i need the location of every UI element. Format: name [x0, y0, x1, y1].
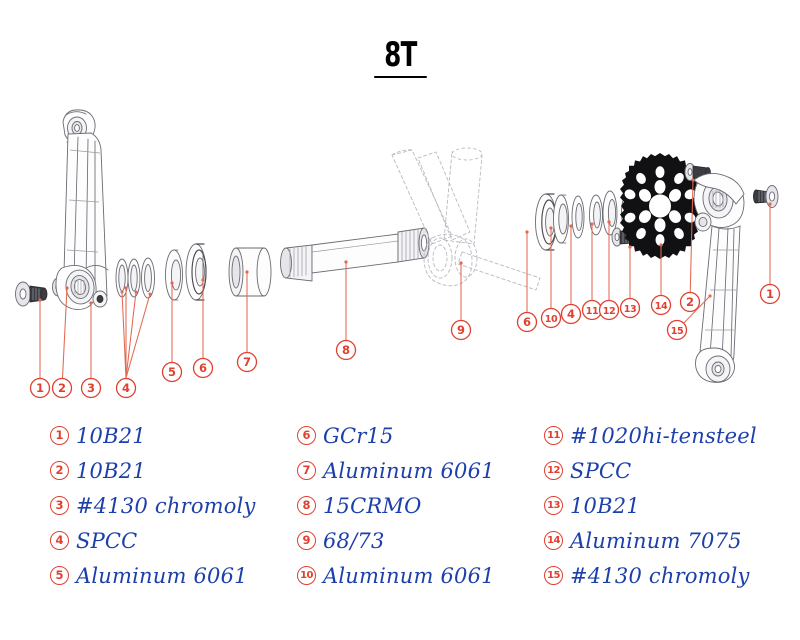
legend-number: 15	[544, 566, 563, 585]
callout-number: 9	[457, 323, 465, 337]
callout-number: 2	[686, 295, 694, 309]
legend-material: #4130 chromoly	[76, 494, 256, 518]
legend-number: 5	[50, 566, 69, 585]
right-cup-ring-part	[554, 195, 569, 243]
callout-number: 15	[671, 326, 684, 337]
legend-number: 12	[544, 461, 563, 480]
callout-number: 6	[523, 315, 531, 329]
legend-material: Aluminum 6061	[323, 459, 495, 483]
callout-number: 1	[36, 381, 44, 395]
callout-number: 4	[567, 307, 575, 321]
legend-item: 13 10B21	[544, 488, 757, 523]
callout-11-dust-cap-ring: 11	[583, 222, 602, 319]
diagram-page: 8T	[0, 0, 800, 640]
legend-number: 7	[297, 461, 316, 480]
legend-number: 13	[544, 496, 563, 515]
legend-number: 9	[297, 531, 316, 550]
legend-item: 2 10B21	[50, 453, 256, 488]
callout-number: 6	[199, 361, 207, 375]
legend-material: 10B21	[570, 494, 640, 518]
callout-1-right-pedal-bolt: 1	[761, 202, 780, 303]
right-pedal-bolt-part	[753, 186, 778, 208]
dust-cap-ring-part	[590, 195, 603, 235]
callout-number: 1	[766, 287, 774, 301]
left-crank-arm-part	[56, 110, 108, 310]
legend-column-2: 6 GCr15 7 Aluminum 6061 8 15CRMO 9 68/73…	[297, 418, 495, 593]
callout-8-spindle-axle: 8	[337, 260, 356, 359]
legend-material: 68/73	[323, 529, 385, 553]
callout-number: 13	[624, 304, 637, 315]
legend-number: 3	[50, 496, 69, 515]
legend-item: 1 10B21	[50, 418, 256, 453]
legend-number: 4	[50, 531, 69, 550]
legend-material: 10B21	[76, 459, 146, 483]
legend-material: #4130 chromoly	[570, 564, 750, 588]
legend-material: 15CRMO	[323, 494, 422, 518]
legend-material: Aluminum 6061	[323, 564, 495, 588]
callout-number: 5	[168, 365, 176, 379]
legend-material: GCr15	[323, 424, 394, 448]
legend-number: 6	[297, 426, 316, 445]
legend-item: 9 68/73	[297, 523, 495, 558]
right-washer-part	[572, 196, 584, 238]
materials-legend: 1 10B21 2 10B21 3 #4130 chromoly 4 SPCC …	[0, 418, 800, 618]
exploded-assembly-drawing: 1234567896104111213142151	[0, 0, 800, 410]
left-pedal-bolt-part	[16, 282, 48, 306]
legend-item: 11 #1020hi-tensteel	[544, 418, 757, 453]
legend-material: SPCC	[570, 459, 631, 483]
callout-1-left-pedal-bolt: 1	[31, 298, 50, 397]
legend-material: 10B21	[76, 424, 146, 448]
callout-number: 3	[87, 381, 95, 395]
legend-item: 5 Aluminum 6061	[50, 558, 256, 593]
spacer-ring-left	[166, 250, 183, 300]
callout-number: 14	[655, 301, 668, 312]
spindle-axle-part	[281, 228, 430, 281]
callout-number: 2	[58, 381, 66, 395]
spacer-tube-part	[229, 248, 271, 296]
callout-number: 11	[586, 306, 599, 317]
legend-item: 14 Aluminum 7075	[544, 523, 757, 558]
legend-column-1: 1 10B21 2 10B21 3 #4130 chromoly 4 SPCC …	[50, 418, 256, 593]
callout-number: 12	[603, 306, 616, 317]
legend-number: 8	[297, 496, 316, 515]
right-crank-arm-part	[694, 173, 744, 382]
callout-6-right-bearing: 6	[518, 230, 537, 331]
bottom-bracket-shell-phantom	[392, 148, 540, 290]
legend-item: 8 15CRMO	[297, 488, 495, 523]
legend-material: Aluminum 7075	[570, 529, 742, 553]
legend-item: 12 SPCC	[544, 453, 757, 488]
legend-column-3: 11 #1020hi-tensteel 12 SPCC 13 10B21 14 …	[544, 418, 757, 593]
washer-group-leaders	[121, 291, 152, 379]
legend-material: SPCC	[76, 529, 137, 553]
callout-4-washers-x3: 4	[117, 286, 136, 397]
legend-number: 2	[50, 461, 69, 480]
callout-3-left-crank-arm: 3	[82, 301, 101, 397]
callout-number: 4	[122, 381, 130, 395]
legend-number: 10	[297, 566, 316, 585]
callout-9-bb-shell-68-73: 9	[452, 261, 471, 339]
legend-item: 15 #4130 chromoly	[544, 558, 757, 593]
legend-number: 11	[544, 426, 563, 445]
legend-item: 4 SPCC	[50, 523, 256, 558]
legend-item: 7 Aluminum 6061	[297, 453, 495, 488]
callout-13-chainring-bolt: 13	[621, 245, 640, 317]
callout-number: 10	[545, 314, 558, 325]
callout-number: 8	[342, 343, 350, 357]
callout-number: 7	[243, 355, 251, 369]
legend-item: 10 Aluminum 6061	[297, 558, 495, 593]
legend-number: 1	[50, 426, 69, 445]
legend-material: Aluminum 6061	[76, 564, 248, 588]
legend-number: 14	[544, 531, 563, 550]
legend-material: #1020hi-tensteel	[570, 424, 757, 448]
legend-item: 3 #4130 chromoly	[50, 488, 256, 523]
legend-item: 6 GCr15	[297, 418, 495, 453]
